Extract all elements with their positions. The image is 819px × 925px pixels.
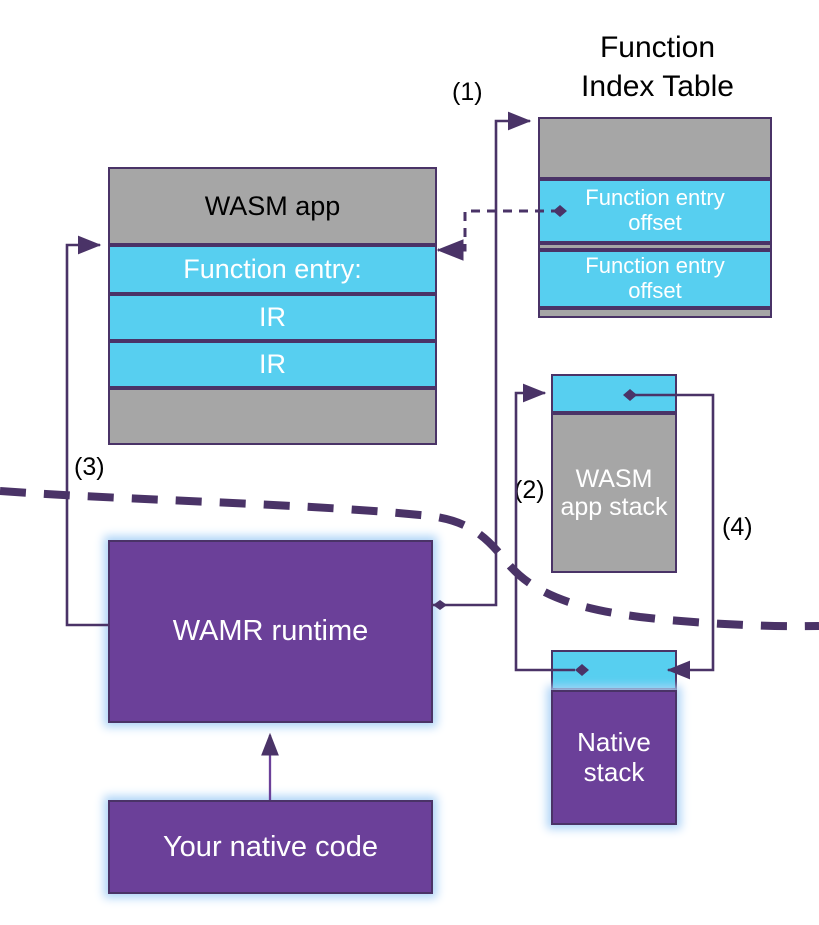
wasm-app-function-entry[interactable]: Function entry:	[108, 245, 437, 294]
wasm-app-stack-line2: app stack	[560, 493, 667, 521]
wasm-app-ir-1[interactable]: IR	[108, 294, 437, 341]
wamr-runtime-box[interactable]: WAMR runtime	[108, 540, 433, 723]
connector-3-to-wasm-app	[67, 245, 108, 625]
fit-row-top-gray	[538, 117, 772, 179]
diamond-endpoint-wamr-right	[433, 600, 447, 610]
step-label-3: (3)	[74, 453, 105, 482]
step-2-text: (2)	[514, 476, 545, 504]
fit-row-bottom-gray	[538, 308, 772, 318]
wasm-app-stack-top-bar[interactable]	[551, 374, 677, 413]
native-stack-line2: stack	[584, 758, 645, 787]
wasm-app-ir-2[interactable]: IR	[108, 341, 437, 388]
fit-row-1-line1: Function entry	[585, 186, 724, 211]
native-stack-body: Native stack	[551, 690, 677, 825]
wasm-app-function-entry-label: Function entry:	[183, 254, 362, 284]
your-native-code-label: Your native code	[163, 831, 378, 863]
fit-row-2-line2: offset	[628, 279, 681, 304]
native-stack-line1: Native	[577, 728, 651, 757]
function-index-table-title: Function Index Table	[545, 28, 770, 106]
wasm-app-stack-line1: WASM	[576, 465, 653, 493]
wamr-runtime-label: WAMR runtime	[173, 615, 369, 647]
fit-row-separator	[538, 243, 772, 250]
wasm-app-footer	[108, 388, 437, 445]
wasm-app-stack-body: WASM app stack	[551, 413, 677, 573]
diagram-canvas: Function Index Table Function entry offs…	[0, 0, 819, 925]
wasm-app-ir-1-label: IR	[259, 302, 286, 332]
wasm-app-label: WASM app	[205, 191, 341, 221]
fit-row-entry-offset-2[interactable]: Function entry offset	[538, 250, 772, 308]
step-label-4: (4)	[722, 513, 753, 542]
step-1-text: (1)	[452, 78, 483, 106]
wasm-app-header: WASM app	[108, 167, 437, 245]
step-label-2: (2)	[514, 476, 545, 505]
native-stack-top-bar[interactable]	[551, 650, 677, 690]
step-3-text: (3)	[74, 453, 105, 481]
connector-1-to-function-index-table	[433, 121, 530, 610]
fit-row-2-line1: Function entry	[585, 254, 724, 279]
fit-title-line1: Function	[545, 28, 770, 67]
fit-row-entry-offset-1[interactable]: Function entry offset	[538, 179, 772, 243]
your-native-code-box[interactable]: Your native code	[108, 800, 433, 894]
step-4-text: (4)	[722, 513, 753, 541]
fit-title-line2: Index Table	[545, 67, 770, 106]
fit-row-1-line2: offset	[628, 211, 681, 236]
wasm-app-ir-2-label: IR	[259, 349, 286, 379]
step-label-1: (1)	[452, 78, 483, 107]
